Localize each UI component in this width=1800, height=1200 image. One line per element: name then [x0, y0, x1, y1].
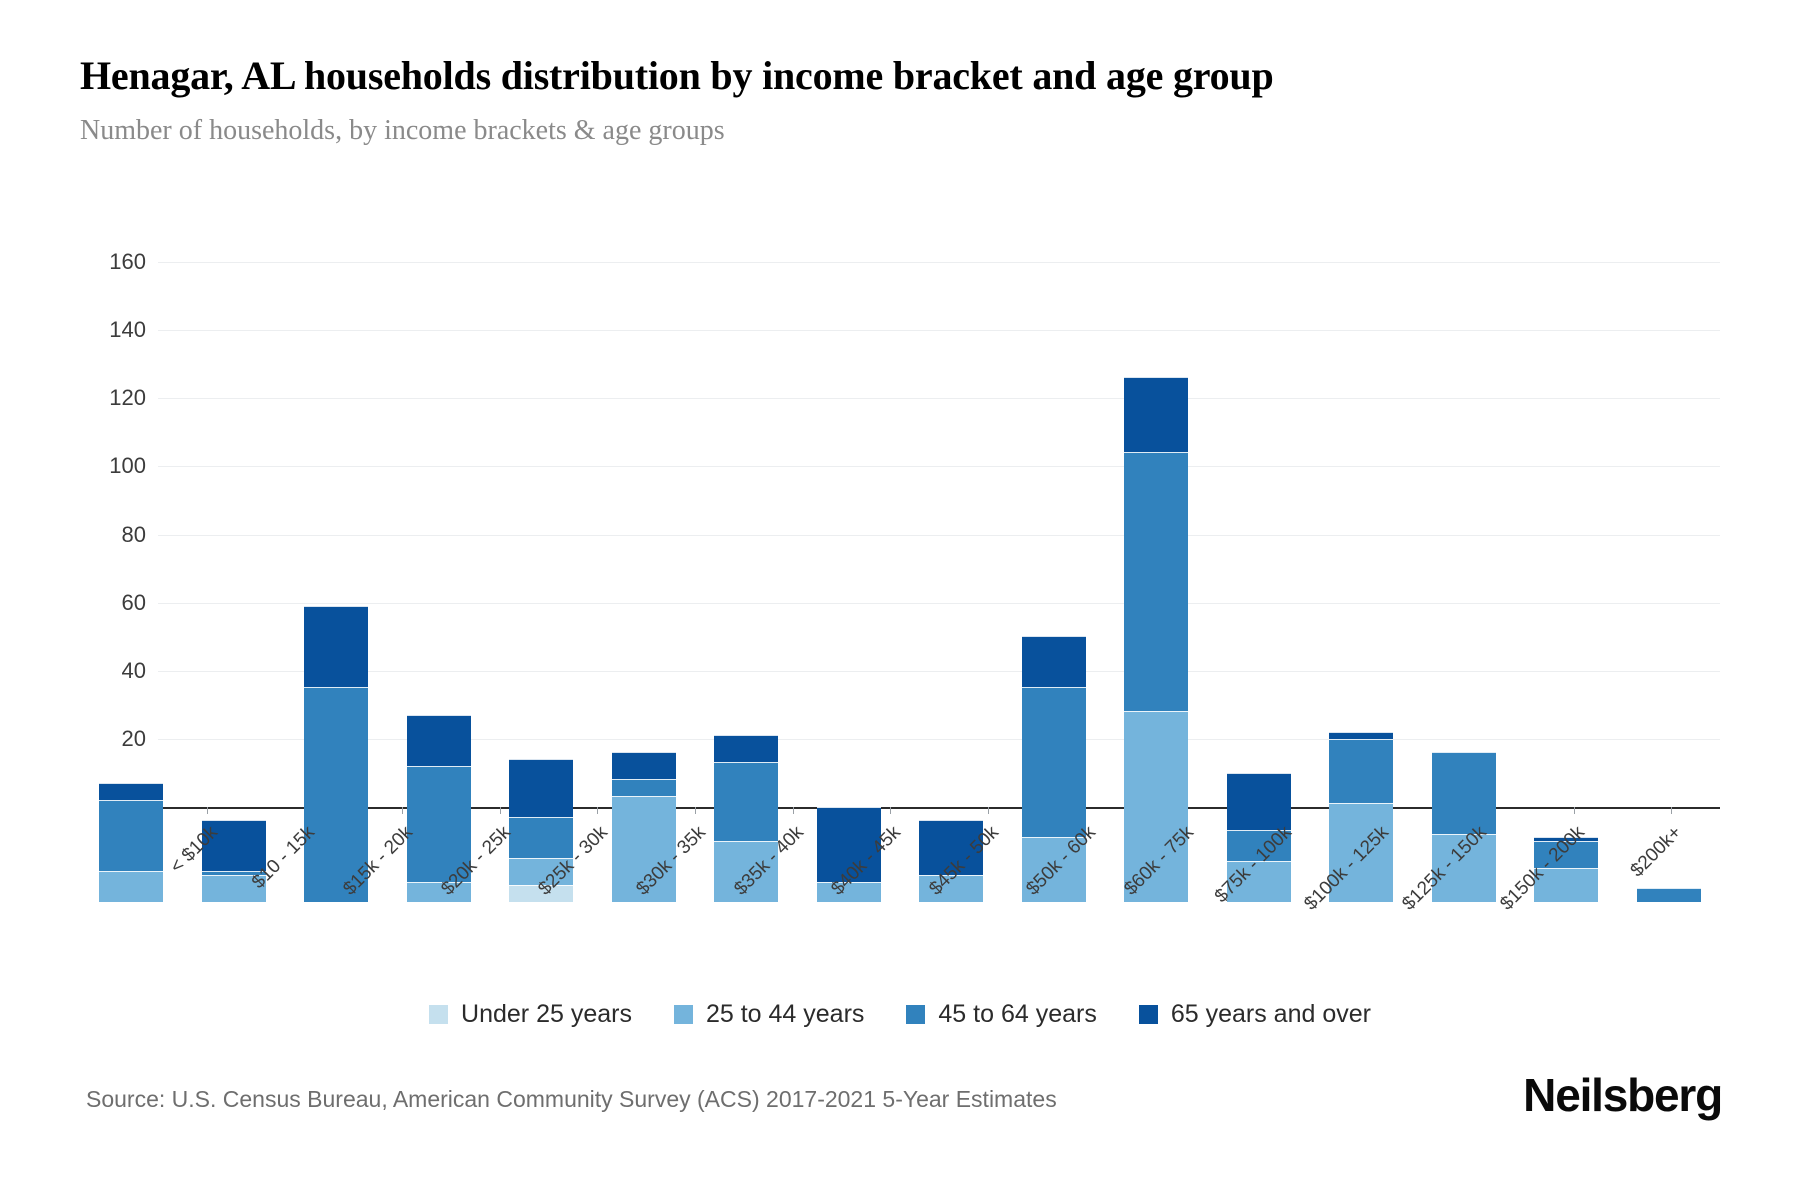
chart-page: Henagar, AL households distribution by i… [0, 0, 1800, 1200]
x-axis-tick: $30k - 35k [646, 814, 744, 944]
x-axis-tick: $50k - 60k [1037, 814, 1135, 944]
legend-label: Under 25 years [461, 1000, 632, 1029]
page-title: Henagar, AL households distribution by i… [80, 52, 1580, 99]
x-axis-tick: $200k+ [1622, 814, 1720, 944]
x-axis-tick: $60k - 75k [1134, 814, 1232, 944]
legend-label: 65 years and over [1171, 1000, 1371, 1029]
x-axis-tick: $100k - 125k [1330, 814, 1428, 944]
x-axis-tick: $125k - 150k [1427, 814, 1525, 944]
legend-swatch-icon [1139, 1005, 1158, 1024]
bar-segment[interactable] [1124, 452, 1188, 711]
x-axis-tick-label: $200k+ [1627, 822, 1687, 882]
gridline [158, 330, 1720, 331]
x-axis-tick: $40k - 45k [841, 814, 939, 944]
x-axis-tick: $150k - 200k [1525, 814, 1623, 944]
legend-swatch-icon [674, 1005, 693, 1024]
chart-plot-area: 020406080100120140160 < $10k$10 - 15k$15… [80, 262, 1720, 902]
x-axis-tick: $45k - 50k [939, 814, 1037, 944]
x-axis-tick-label: < $10k [166, 822, 222, 878]
bar-segment[interactable] [1124, 377, 1188, 452]
chart-header: Henagar, AL households distribution by i… [80, 52, 1640, 147]
bar-segment[interactable] [612, 779, 676, 796]
legend-label: 25 to 44 years [706, 1000, 864, 1029]
gridline [158, 262, 1720, 263]
legend-item[interactable]: 25 to 44 years [674, 1000, 864, 1029]
x-axis: < $10k$10 - 15k$15k - 20k$20k - 25k$25k … [158, 814, 1720, 944]
y-axis-tick-label: 140 [109, 317, 146, 343]
x-axis-tick: $25k - 30k [549, 814, 647, 944]
chart-subtitle: Number of households, by income brackets… [80, 115, 1640, 147]
x-axis-tick: $20k - 25k [451, 814, 549, 944]
legend-item[interactable]: 65 years and over [1139, 1000, 1371, 1029]
x-axis-tick-label: $10 - 15k [248, 822, 320, 894]
x-axis-tick: $10 - 15k [256, 814, 354, 944]
bar-segment[interactable] [407, 715, 471, 766]
x-axis-tick: < $10k [158, 814, 256, 944]
bar-segment[interactable] [1329, 739, 1393, 804]
y-axis-tick-label: 160 [109, 249, 146, 275]
bar-segment[interactable] [612, 752, 676, 779]
legend-swatch-icon [906, 1005, 925, 1024]
legend-label: 45 to 64 years [938, 1000, 1096, 1029]
x-axis-tick: $75k - 100k [1232, 814, 1330, 944]
x-axis-tick: $15k - 20k [353, 814, 451, 944]
bar-segment[interactable] [99, 800, 163, 872]
stacked-bar[interactable] [99, 783, 163, 902]
bar-segment[interactable] [509, 759, 573, 817]
bar-segment[interactable] [714, 735, 778, 762]
legend-swatch-icon [429, 1005, 448, 1024]
legend-item[interactable]: Under 25 years [429, 1000, 632, 1029]
bar-segment[interactable] [304, 606, 368, 688]
chart-legend: Under 25 years25 to 44 years45 to 64 yea… [0, 1000, 1800, 1029]
legend-item[interactable]: 45 to 64 years [906, 1000, 1096, 1029]
bar-segment[interactable] [99, 783, 163, 800]
bar-segment[interactable] [1329, 732, 1393, 739]
bar-segment[interactable] [99, 871, 163, 902]
bar-segment[interactable] [1022, 636, 1086, 687]
x-axis-tick: $35k - 40k [744, 814, 842, 944]
brand-logo: Neilsberg [1523, 1068, 1722, 1122]
source-note: Source: U.S. Census Bureau, American Com… [86, 1086, 1057, 1113]
